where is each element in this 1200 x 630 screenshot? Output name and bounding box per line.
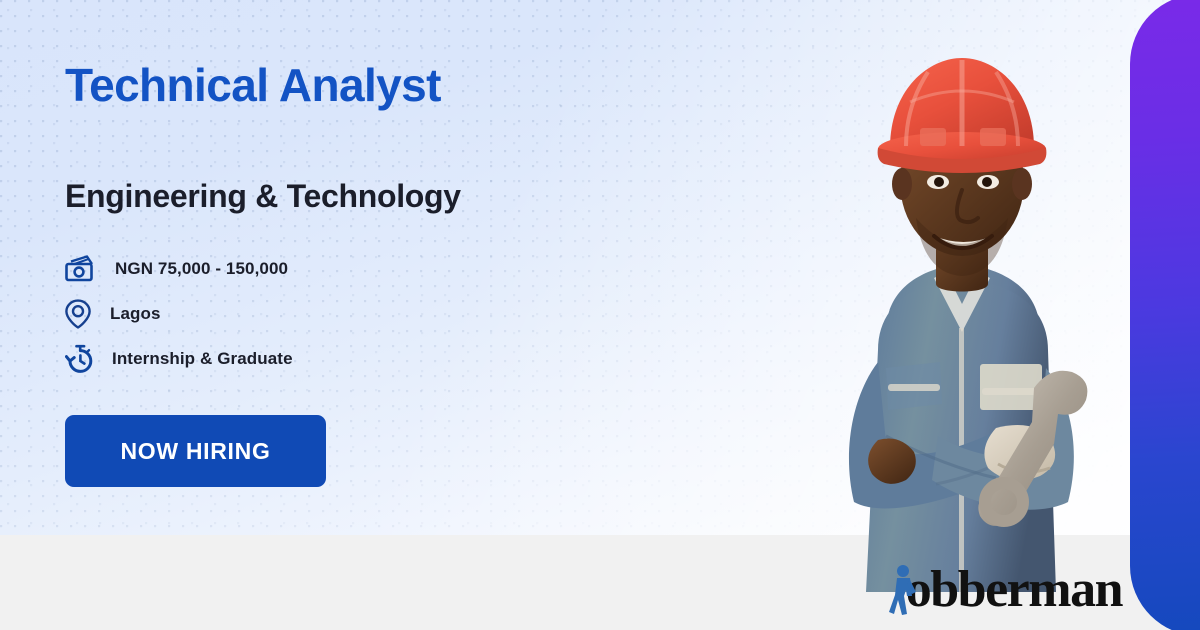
walking-person-icon <box>885 562 919 618</box>
meta-row-salary: NGN 75,000 - 150,000 <box>65 246 293 291</box>
stopwatch-icon <box>65 344 105 374</box>
meta-row-location: Lagos <box>65 291 293 336</box>
location-icon <box>65 299 105 329</box>
job-category: Engineering & Technology <box>65 178 461 215</box>
page-title: Technical Analyst <box>65 58 441 112</box>
meta-label-salary: NGN 75,000 - 150,000 <box>105 259 288 279</box>
job-meta-list: NGN 75,000 - 150,000 Lagos <box>65 246 293 381</box>
now-hiring-button[interactable]: NOW HIRING <box>65 415 326 487</box>
meta-label-location: Lagos <box>105 304 161 324</box>
worker-photo <box>782 32 1142 592</box>
jobberman-wordmark: obberman <box>906 564 1122 616</box>
jobberman-logo: obberman <box>885 562 1122 618</box>
job-poster: Technical Analyst Engineering & Technolo… <box>0 0 1200 630</box>
meta-label-job-type: Internship & Graduate <box>105 349 293 369</box>
money-icon <box>65 255 105 283</box>
meta-row-job-type: Internship & Graduate <box>65 336 293 381</box>
